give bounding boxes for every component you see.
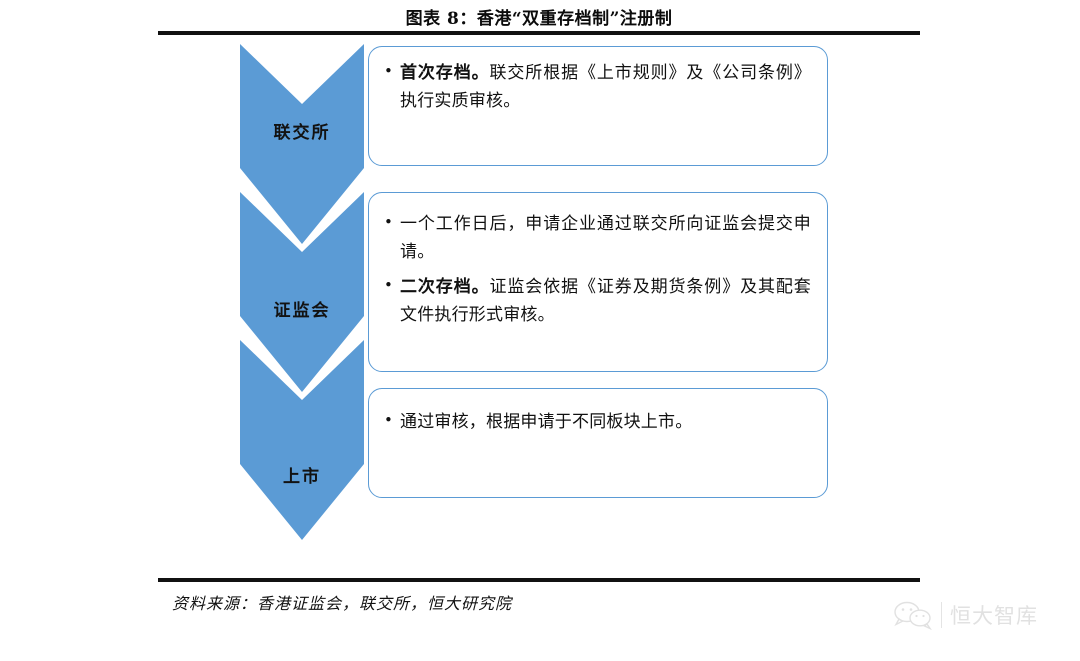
bullet-emphasis: 二次存档。 <box>400 277 490 297</box>
bullet-emphasis: 首次存档。 <box>400 63 490 83</box>
stage-label-step-2: 证监会 <box>240 296 364 321</box>
bullet-list-step-2: 一个工作日后，申请企业通过联交所向证监会提交申请。 二次存档。证监会依据《证券及… <box>369 193 827 329</box>
flow-diagram: 联交所 证监会 上市 首次存档。联交所根据《上市规则》及《公司条例》执行实质审核… <box>0 0 1080 661</box>
stage-label-step-3: 上市 <box>240 462 364 487</box>
watermark-divider <box>941 602 942 628</box>
watermark: 恒大智库 <box>893 600 1038 630</box>
bullet-list-step-3: 通过审核，根据申请于不同板块上市。 <box>369 389 827 437</box>
bullet-list-step-1: 首次存档。联交所根据《上市规则》及《公司条例》执行实质审核。 <box>369 47 827 115</box>
content-box-step-2: 一个工作日后，申请企业通过联交所向证监会提交申请。 二次存档。证监会依据《证券及… <box>368 192 828 372</box>
stage-label-step-1: 联交所 <box>240 118 364 143</box>
bullet-text: 一个工作日后，申请企业通过联交所向证监会提交申请。 <box>400 214 811 262</box>
wechat-icon <box>893 600 933 630</box>
bullet-item: 一个工作日后，申请企业通过联交所向证监会提交申请。 <box>383 211 811 266</box>
content-box-step-1: 首次存档。联交所根据《上市规则》及《公司条例》执行实质审核。 <box>368 46 828 166</box>
watermark-label: 恒大智库 <box>950 600 1038 630</box>
source-note: 资料来源：香港证监会，联交所，恒大研究院 <box>172 590 512 614</box>
divider-bottom <box>158 578 920 582</box>
content-box-step-3: 通过审核，根据申请于不同板块上市。 <box>368 388 828 498</box>
bullet-item: 通过审核，根据申请于不同板块上市。 <box>383 409 811 437</box>
bullet-item: 首次存档。联交所根据《上市规则》及《公司条例》执行实质审核。 <box>383 60 811 115</box>
bullet-item: 二次存档。证监会依据《证券及期货条例》及其配套文件执行形式审核。 <box>383 274 811 329</box>
bullet-text: 通过审核，根据申请于不同板块上市。 <box>400 412 692 432</box>
